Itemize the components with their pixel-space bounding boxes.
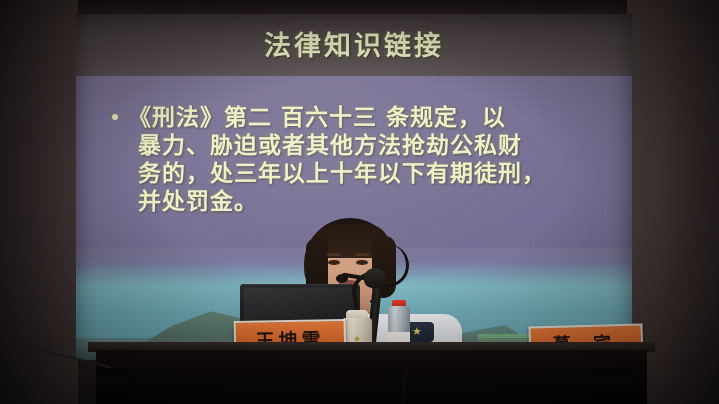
photo-frame: 法律知识链接 《刑法》第二 百六十三 条规定，以 暴力、胁迫或者其他方法抢劫公私… <box>0 0 719 404</box>
slide-title: 法律知识链接 <box>76 24 632 63</box>
microphone-head-icon <box>364 268 386 288</box>
badge-star-icon: ★ <box>412 326 422 337</box>
conference-table <box>0 342 719 404</box>
bullet-dot-icon <box>112 114 118 120</box>
slide-line-2: 暴力、胁迫或者其他方法抢劫公私财 <box>112 132 612 160</box>
table-front-panel <box>96 350 647 404</box>
speaker-eye-right <box>356 260 368 265</box>
slide-body-text: 《刑法》第二 百六十三 条规定，以 暴力、胁迫或者其他方法抢劫公私财 务的，处三… <box>112 104 612 216</box>
slide-line-3: 务的，处三年以上十年以下有期徒刑， <box>112 160 612 188</box>
speaker-eyebrow-right <box>355 253 369 256</box>
speaker-eyebrow-left <box>327 253 341 256</box>
slide-bullet-line-1: 《刑法》第二 百六十三 条规定，以 <box>112 104 612 132</box>
headset-mic-capsule-icon <box>336 274 348 283</box>
speaker-eye-left <box>328 260 340 265</box>
slide-line-1-text: 《刑法》第二 百六十三 条规定，以 <box>128 105 506 131</box>
slide-line-4: 并处罚金。 <box>112 188 612 216</box>
